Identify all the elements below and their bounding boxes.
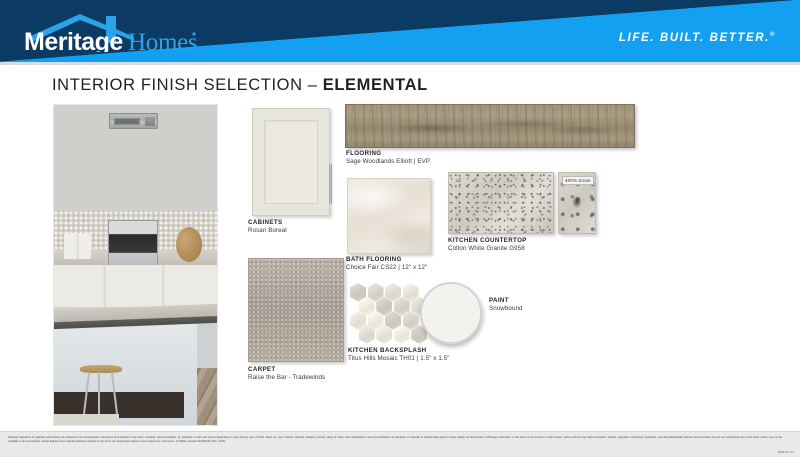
svg-text:Meritage: Meritage bbox=[24, 28, 123, 52]
cabinet-door-handle bbox=[329, 164, 332, 204]
cabinet-door-panel bbox=[264, 120, 318, 204]
label-cabinets-detail: Rosan Boreal bbox=[248, 227, 287, 235]
photo-barstool-seat bbox=[80, 365, 122, 373]
label-flooring: FLOORING Sage Woodlands Elliott | EVP bbox=[346, 150, 430, 166]
label-carpet-title: CARPET bbox=[248, 366, 325, 374]
photo-kitchen-island bbox=[54, 307, 217, 425]
photo-microwave bbox=[109, 113, 158, 129]
hex-tile bbox=[376, 325, 392, 344]
photo-floor-rug bbox=[54, 414, 119, 425]
tagline-trademark: ® bbox=[770, 32, 776, 38]
label-paint-title: PAINT bbox=[489, 297, 523, 305]
page-title: INTERIOR FINISH SELECTION – ELEMENTAL bbox=[52, 76, 428, 95]
zoom-level-badge: 400% Zoom bbox=[562, 176, 594, 185]
label-kitchen-countertop-detail: Colton White Granite G958 bbox=[448, 245, 527, 253]
page-title-prefix: INTERIOR FINISH SELECTION – bbox=[52, 76, 323, 94]
label-carpet-detail: Raise the Bar - Tradewinds bbox=[248, 374, 325, 382]
label-bath-flooring-title: BATH FLOORING bbox=[346, 256, 427, 264]
legal-disclaimer: Although depictions of materials and fin… bbox=[8, 436, 792, 444]
hex-tile bbox=[359, 325, 375, 344]
hex-tile bbox=[385, 283, 401, 302]
photo-microwave-panel bbox=[145, 117, 155, 126]
hex-tile bbox=[368, 311, 384, 330]
photo-barstool-leg bbox=[98, 372, 100, 416]
hex-tile bbox=[394, 297, 410, 316]
page-header: Meritage Homes LIFE. BUILT. BETTER.® bbox=[0, 0, 800, 62]
hex-tile bbox=[403, 311, 419, 330]
label-cabinets-title: CABINETS bbox=[248, 219, 287, 227]
photo-canisters bbox=[64, 233, 92, 259]
bath-tile-swatch bbox=[347, 178, 431, 254]
hex-mosaic-swatch bbox=[350, 283, 408, 341]
label-flooring-title: FLOORING bbox=[346, 150, 430, 158]
granite-zoom-swatch: 400% Zoom bbox=[558, 172, 596, 234]
carpet-swatch bbox=[248, 258, 344, 362]
label-kitchen-countertop-title: KITCHEN COUNTERTOP bbox=[448, 237, 527, 245]
label-paint: PAINT Snowbound bbox=[489, 297, 523, 313]
label-kitchen-countertop: KITCHEN COUNTERTOP Colton White Granite … bbox=[448, 237, 527, 253]
label-bath-flooring-detail: Choice Fair CS22 | 12" x 12" bbox=[346, 264, 427, 272]
paint-can-swatch bbox=[420, 282, 482, 344]
hex-tile bbox=[350, 283, 366, 302]
svg-text:Homes: Homes bbox=[128, 29, 197, 52]
hex-tile bbox=[403, 283, 419, 302]
hex-tile bbox=[350, 311, 366, 330]
cabinet-door-swatch bbox=[252, 108, 330, 216]
meritage-homes-logo: Meritage Homes bbox=[24, 12, 284, 52]
label-cabinets: CABINETS Rosan Boreal bbox=[248, 219, 287, 235]
wood-plank-swatch bbox=[345, 104, 635, 148]
label-flooring-detail: Sage Woodlands Elliott | EVP bbox=[346, 158, 430, 166]
label-kitchen-backsplash-detail: Titus Hills Mosaic TH01 | 1.5" x 1.5" bbox=[348, 355, 450, 363]
hex-tile bbox=[385, 311, 401, 330]
label-paint-detail: Snowbound bbox=[489, 305, 523, 313]
finish-selection-page: Meritage Homes LIFE. BUILT. BETTER.® INT… bbox=[0, 0, 800, 457]
brand-tagline: LIFE. BUILT. BETTER.® bbox=[619, 32, 776, 44]
label-kitchen-backsplash: KITCHEN BACKSPLASH Titus Hills Mosaic TH… bbox=[348, 347, 450, 363]
tagline-text: LIFE. BUILT. BETTER. bbox=[619, 32, 770, 44]
hex-tile bbox=[359, 297, 375, 316]
label-carpet: CARPET Raise the Bar - Tradewinds bbox=[248, 366, 325, 382]
hex-tile bbox=[394, 325, 410, 344]
document-code: EM1727.01 bbox=[778, 450, 794, 454]
label-bath-flooring: BATH FLOORING Choice Fair CS22 | 12" x 1… bbox=[346, 256, 427, 272]
hex-tile bbox=[368, 283, 384, 302]
photo-wooden-bowl bbox=[176, 227, 202, 262]
page-title-scheme: ELEMENTAL bbox=[323, 76, 428, 94]
kitchen-interior-photo bbox=[53, 104, 218, 426]
label-kitchen-backsplash-title: KITCHEN BACKSPLASH bbox=[348, 347, 450, 355]
header-divider bbox=[0, 62, 800, 65]
photo-wall-cabinets bbox=[54, 105, 217, 211]
hex-tile bbox=[376, 297, 392, 316]
photo-microwave-window bbox=[114, 118, 140, 126]
page-footer: Although depictions of materials and fin… bbox=[0, 431, 800, 457]
granite-swatch bbox=[448, 172, 554, 234]
